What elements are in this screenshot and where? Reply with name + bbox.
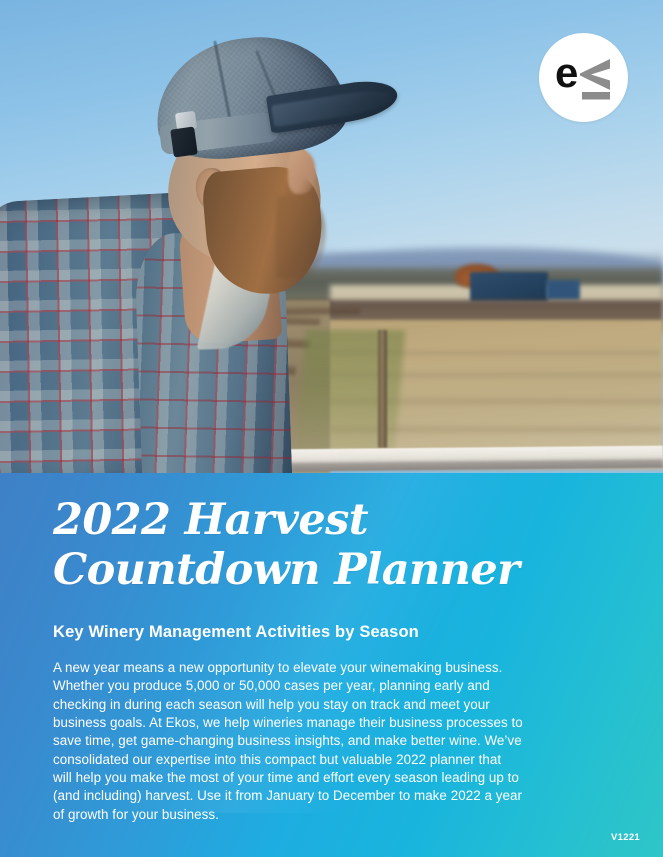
chevron-left-icon	[580, 59, 610, 90]
cover-page: e 2022 Harvest Countdown Planner Key Win…	[0, 0, 663, 857]
ekos-logo: e	[555, 54, 613, 102]
version-label: V1221	[611, 832, 640, 843]
intro-content: 2022 Harvest Countdown Planner Key Winer…	[53, 495, 613, 824]
hero-photo: e	[0, 0, 663, 474]
logo-underline-bar	[582, 92, 610, 100]
intro-band: 2022 Harvest Countdown Planner Key Winer…	[0, 473, 663, 857]
cap-clip	[170, 126, 198, 157]
logo-letter-e: e	[555, 54, 578, 96]
page-subtitle: Key Winery Management Activities by Seas…	[53, 621, 613, 643]
intro-paragraph: A new year means a new opportunity to el…	[53, 659, 523, 824]
page-title: 2022 Harvest Countdown Planner	[53, 495, 613, 595]
beard-edge	[276, 196, 326, 278]
face-profile	[288, 150, 316, 194]
